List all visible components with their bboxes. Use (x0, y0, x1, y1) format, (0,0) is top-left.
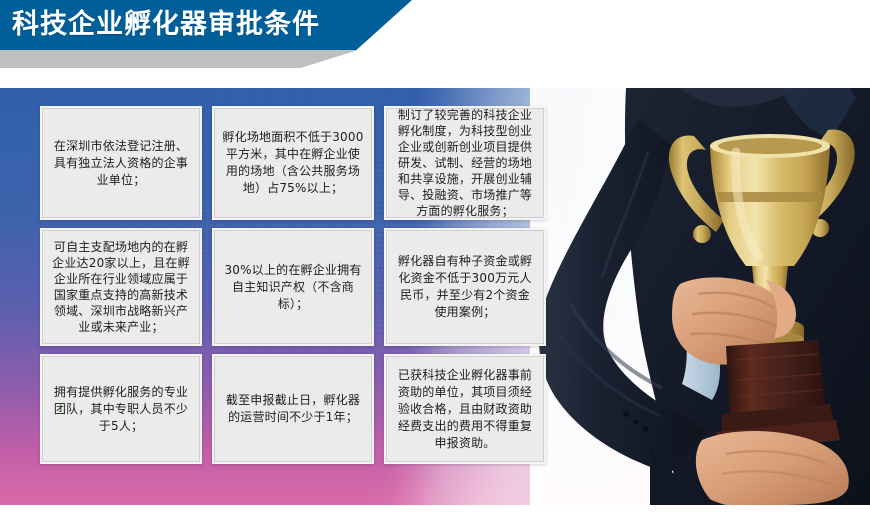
condition-card-1[interactable]: 在深圳市依法登记注册、具有独立法人资格的企事业单位； (40, 106, 202, 220)
condition-text-5: 30%以上的在孵企业拥有自主知识产权（不含商标）； (222, 262, 364, 313)
hero-section: 在深圳市依法登记注册、具有独立法人资格的企事业单位； 孵化场地面积不低于3000… (0, 88, 870, 505)
condition-text-8: 截至申报截止日，孵化器的运营时间不少于1年； (222, 392, 364, 426)
infographic-page: 科技企业孵化器审批条件 (0, 0, 870, 522)
page-title: 科技企业孵化器审批条件 (0, 0, 320, 50)
conditions-grid: 在深圳市依法登记注册、具有独立法人资格的企事业单位； 孵化场地面积不低于3000… (40, 106, 552, 464)
condition-text-1: 在深圳市依法登记注册、具有独立法人资格的企事业单位； (50, 138, 192, 189)
condition-card-3[interactable]: 制订了较完善的科技企业孵化制度，为科技型创业企业或创新创业项目提供研发、试制、经… (384, 106, 546, 220)
businessman-trophy-photo (530, 88, 870, 505)
condition-card-6[interactable]: 孵化器自有种子资金或孵化资金不低于300万元人民币，并至少有2个资金使用案例； (384, 228, 546, 346)
condition-card-8[interactable]: 截至申报截止日，孵化器的运营时间不少于1年； (212, 354, 374, 464)
condition-card-7[interactable]: 拥有提供孵化服务的专业团队，其中专职人员不少于5人； (40, 354, 202, 464)
condition-card-4[interactable]: 可自主支配场地内的在孵企业达20家以上，且在孵企业所在行业领域应属于国家重点支持… (40, 228, 202, 346)
condition-text-6: 孵化器自有种子资金或孵化资金不低于300万元人民币，并至少有2个资金使用案例； (394, 253, 536, 321)
condition-text-7: 拥有提供孵化服务的专业团队，其中专职人员不少于5人； (50, 384, 192, 435)
condition-text-2: 孵化场地面积不低于3000平方米，其中在孵企业使用的场地（含公共服务场地）占75… (222, 129, 364, 197)
condition-card-9[interactable]: 已获科技企业孵化器事前资助的单位，其项目须经验收合格，且由财政资助经费支出的费用… (384, 354, 546, 464)
banner-blue-shape: 科技企业孵化器审批条件 (0, 0, 412, 50)
condition-card-2[interactable]: 孵化场地面积不低于3000平方米，其中在孵企业使用的场地（含公共服务场地）占75… (212, 106, 374, 220)
condition-text-4: 可自主支配场地内的在孵企业达20家以上，且在孵企业所在行业领域应属于国家重点支持… (50, 239, 192, 335)
banner-shadow-shape (0, 50, 358, 68)
condition-card-5[interactable]: 30%以上的在孵企业拥有自主知识产权（不含商标）； (212, 228, 374, 346)
trophy-photo-illustration (530, 88, 870, 505)
condition-text-9: 已获科技企业孵化器事前资助的单位，其项目须经验收合格，且由财政资助经费支出的费用… (394, 367, 536, 452)
condition-text-3: 制订了较完善的科技企业孵化制度，为科技型创业企业或创新创业项目提供研发、试制、经… (394, 107, 536, 219)
title-banner: 科技企业孵化器审批条件 (0, 0, 470, 72)
